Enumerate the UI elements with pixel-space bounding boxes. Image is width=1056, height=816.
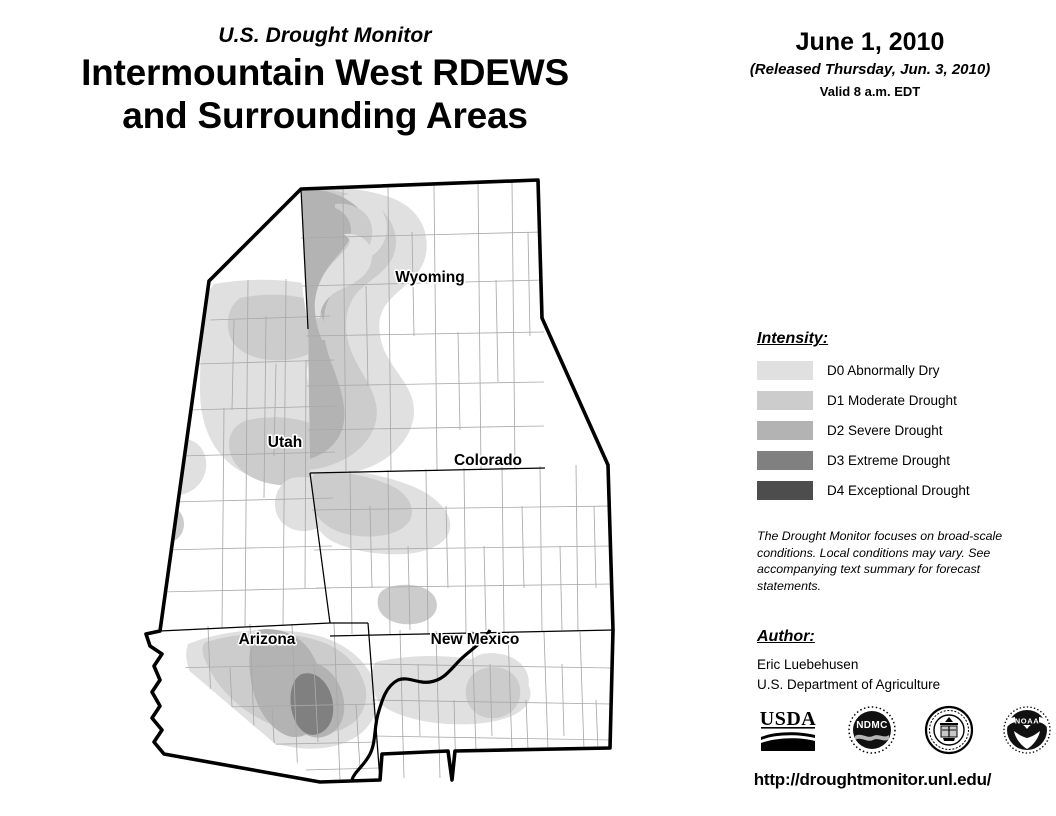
- page-title-line1: Intermountain West RDEWS: [0, 52, 650, 95]
- released-date: (Released Thursday, Jun. 3, 2010): [700, 61, 1040, 79]
- legend-item-d2[interactable]: D2 Severe Drought: [757, 420, 1047, 441]
- svg-text:NOAA: NOAA: [1015, 716, 1039, 725]
- legend-item-d3[interactable]: D3 Extreme Drought: [757, 450, 1047, 471]
- legend-title: Intensity:: [757, 330, 1047, 348]
- legend-swatch-d3: [757, 451, 813, 470]
- website-url[interactable]: http://droughtmonitor.unl.edu/: [700, 770, 1045, 790]
- author-title: Author:: [757, 628, 1047, 646]
- legend-item-d0[interactable]: D0 Abnormally Dry: [757, 360, 1047, 381]
- new-mexico-drought: [371, 653, 530, 724]
- legend-swatch-d4: [757, 481, 813, 500]
- legend-label-d0: D0 Abnormally Dry: [827, 364, 940, 378]
- date-block: June 1, 2010 (Released Thursday, Jun. 3,…: [700, 28, 1040, 99]
- state-label-utah: Utah: [268, 434, 302, 451]
- legend-label-d3: D3 Extreme Drought: [827, 454, 950, 468]
- drought-map[interactable]: Wyoming Utah Colorado Arizona New Mexico: [130, 168, 650, 793]
- state-label-new-mexico: New Mexico: [431, 631, 520, 648]
- map-date: June 1, 2010: [700, 28, 1040, 57]
- svg-text:USDA: USDA: [760, 708, 817, 730]
- legend-swatch-d0: [757, 361, 813, 380]
- state-label-arizona: Arizona: [239, 631, 296, 648]
- state-label-wyoming: Wyoming: [395, 269, 464, 286]
- page-title-line2: and Surrounding Areas: [0, 95, 650, 138]
- legend-item-d4[interactable]: D4 Exceptional Drought: [757, 480, 1047, 501]
- unl-seal-logo[interactable]: [924, 705, 974, 760]
- page-title: Intermountain West RDEWS and Surrounding…: [0, 52, 650, 138]
- legend-label-d2: D2 Severe Drought: [827, 424, 943, 438]
- svg-text:NDMC: NDMC: [856, 720, 888, 731]
- valid-time: Valid 8 a.m. EDT: [700, 84, 1040, 100]
- noaa-logo[interactable]: NOAA: [1002, 705, 1052, 760]
- legend-swatch-d1: [757, 391, 813, 410]
- author-block: Author: Eric Luebehusen U.S. Department …: [757, 628, 1047, 694]
- author-affiliation: U.S. Department of Agriculture: [757, 675, 1047, 695]
- state-label-colorado: Colorado: [454, 452, 522, 469]
- legend-swatch-d2: [757, 421, 813, 440]
- colorado-drought: [310, 470, 451, 625]
- legend: Intensity: D0 Abnormally Dry D1 Moderate…: [757, 330, 1047, 510]
- legend-item-d1[interactable]: D1 Moderate Drought: [757, 390, 1047, 411]
- ndmc-logo[interactable]: NDMC: [847, 705, 897, 760]
- supertitle: U.S. Drought Monitor: [0, 24, 650, 47]
- author-name: Eric Luebehusen: [757, 655, 1047, 675]
- disclaimer-text: The Drought Monitor focuses on broad-sca…: [757, 528, 1022, 595]
- logo-row: USDA NDMC: [757, 703, 1052, 761]
- title-block: U.S. Drought Monitor Intermountain West …: [0, 24, 650, 138]
- legend-label-d1: D1 Moderate Drought: [827, 394, 957, 408]
- usda-logo[interactable]: USDA: [757, 706, 819, 759]
- wyoming-drought: [302, 187, 427, 476]
- legend-label-d4: D4 Exceptional Drought: [827, 484, 970, 498]
